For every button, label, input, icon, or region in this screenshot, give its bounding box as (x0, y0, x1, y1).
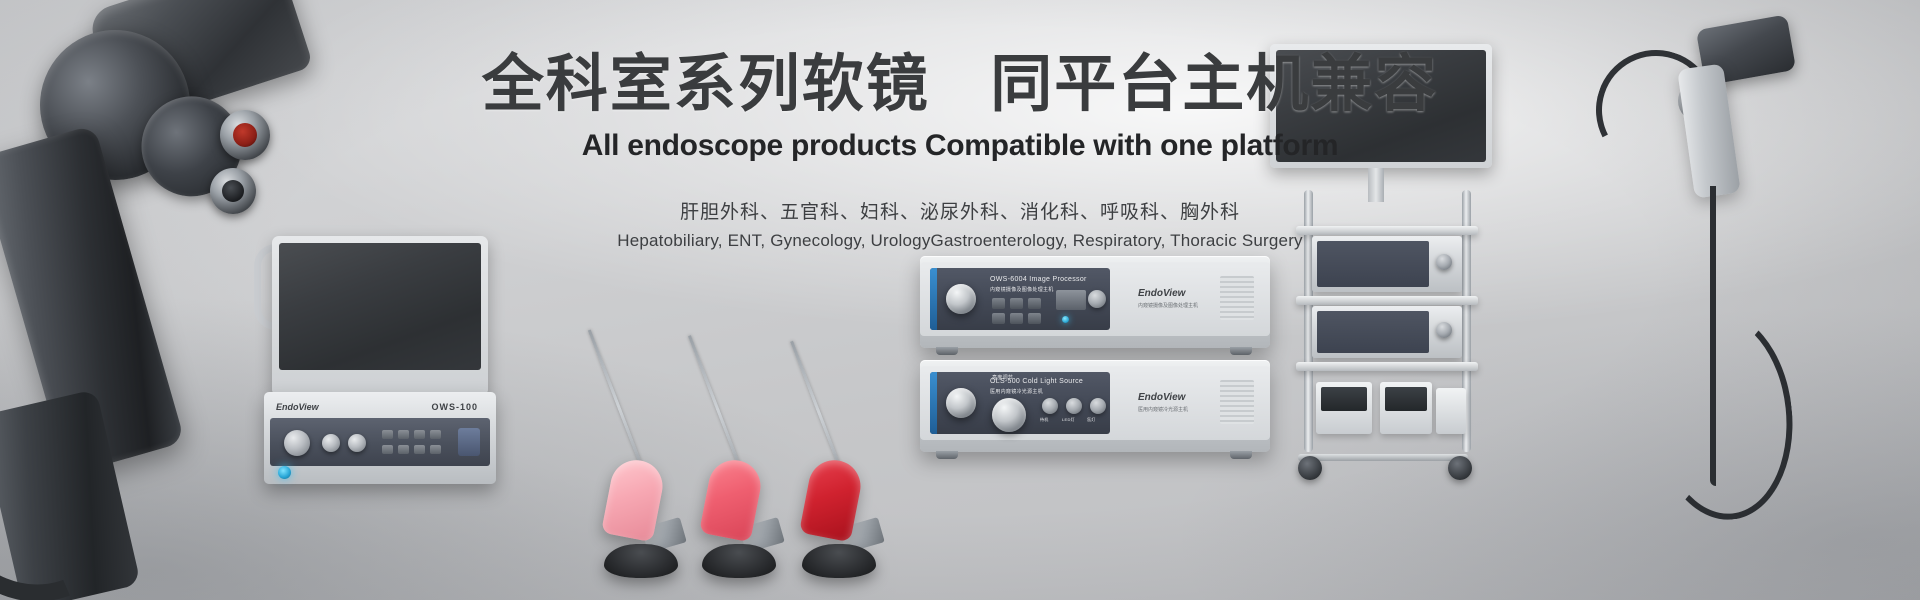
banner-text-block: 全科室系列软镜 同平台主机兼容 All endoscope products C… (0, 52, 1920, 251)
cold-light-source-unit: OLS-500 Cold Light Source 医用内窥镜冷光源主机 亮度调… (920, 360, 1270, 452)
cart-accessory-unit (1316, 382, 1372, 434)
departments-english: Hepatobiliary, ENT, Gynecology, UrologyG… (0, 231, 1920, 251)
processor-vent (1220, 276, 1254, 320)
workstation-dial (284, 430, 310, 456)
light-source-brand-sub: 医用内窥镜冷光源主机 (1138, 406, 1188, 413)
departments-chinese: 肝胆外科、五官科、妇科、泌尿外科、消化科、呼吸科、胸外科 (0, 197, 1920, 224)
processor-foot (1230, 347, 1252, 355)
scope-tube-loop (1641, 303, 1802, 526)
processor-blue-stripe (930, 268, 937, 330)
processor-title-en: OWS-6004 Image Processor (990, 276, 1087, 283)
cart-shelf (1296, 362, 1478, 371)
workstation-power-indicator (278, 466, 291, 479)
cart-accessory-screen (1321, 387, 1367, 411)
processor-main-dial (946, 284, 976, 314)
light-source-fiber-port (946, 388, 976, 418)
processor-brand-label: EndoView (1138, 288, 1185, 299)
workstation-dial-small (348, 434, 366, 452)
light-source-button-standby (1042, 398, 1058, 414)
processor-fascia: OWS-6004 Image Processor 内窥镜摄像及图像处理主机 En… (920, 262, 1270, 336)
processor-brand-sub: 内窥镜摄像及图像处理主机 (1138, 302, 1198, 309)
workstation-keypad-key (430, 430, 441, 439)
workstation-keypad-key (382, 430, 393, 439)
instrument-pink (608, 348, 698, 578)
workstation-model-label: OWS-100 (431, 402, 478, 412)
light-source-control-panel: OLS-500 Cold Light Source 医用内窥镜冷光源主机 亮度调… (930, 372, 1110, 434)
light-source-standby-label: 待机 (1040, 417, 1049, 423)
processor-button (992, 298, 1005, 309)
light-source-brand-label: EndoView (1138, 392, 1185, 403)
light-source-led-label: LED灯 (1062, 417, 1075, 423)
image-processor-unit: OWS-6004 Image Processor 内窥镜摄像及图像处理主机 En… (920, 256, 1270, 348)
processor-button (992, 313, 1005, 324)
cart-shelf (1296, 296, 1478, 305)
light-source-fascia: OLS-500 Cold Light Source 医用内窥镜冷光源主机 亮度调… (920, 366, 1270, 440)
cart-device-light-source (1312, 306, 1462, 358)
processor-card-slot (1056, 290, 1086, 310)
workstation-dial-small (322, 434, 340, 452)
processor-button (1028, 313, 1041, 324)
workstation-keypad-key (414, 445, 425, 454)
promotional-banner: EndoView OWS-100 (0, 0, 1920, 600)
subheadline: All endoscope products Compatible with o… (0, 129, 1920, 163)
processor-title-cn: 内窥镜摄像及图像处理主机 (990, 286, 1054, 293)
headline: 全科室系列软镜 同平台主机兼容 (0, 52, 1920, 119)
cart-device-panel (1317, 311, 1429, 353)
workstation-monitor (272, 236, 488, 396)
light-source-xenon-label: 氙灯 (1087, 417, 1096, 423)
processor-knob (1088, 290, 1106, 308)
workstation-side-module (458, 428, 480, 456)
instrument-coral (706, 348, 796, 578)
cart-accessory-unit (1436, 388, 1466, 434)
light-source-foot (936, 451, 958, 459)
light-source-blue-stripe (930, 372, 937, 434)
cart-accessory-screen (1385, 387, 1427, 411)
light-source-button-xenon (1090, 398, 1106, 414)
light-source-vent (1220, 380, 1254, 424)
cart-wheel-left (1298, 456, 1322, 480)
workstation-keypad-key (398, 445, 409, 454)
light-source-title-cn: 医用内窥镜冷光源主机 (990, 388, 1043, 395)
light-source-button-led (1066, 398, 1082, 414)
processor-button (1010, 298, 1023, 309)
cart-crossbar (1298, 454, 1468, 461)
workstation-base-unit: EndoView OWS-100 (264, 392, 496, 484)
instrument-stand-base (604, 544, 678, 578)
workstation-screen-glass (279, 243, 481, 370)
cart-device-knob (1436, 254, 1452, 270)
light-source-brightness-label: 亮度调节 (992, 374, 1013, 381)
workstation-control-fascia (270, 418, 490, 466)
processor-foot (936, 347, 958, 355)
workstation-ows-100: EndoView OWS-100 (232, 236, 502, 490)
processor-button (1010, 313, 1023, 324)
light-source-brightness-dial (992, 398, 1026, 432)
headline-part-2: 同平台主机兼容 (990, 50, 1438, 119)
workstation-keypad-key (398, 430, 409, 439)
instrument-stand-base (702, 544, 776, 578)
processor-status-led (1062, 316, 1069, 323)
instrument-stand-base (802, 544, 876, 578)
processor-stack: OWS-6004 Image Processor 内窥镜摄像及图像处理主机 En… (920, 256, 1280, 456)
processor-button (1028, 298, 1041, 309)
workstation-keypad-key (414, 430, 425, 439)
light-source-foot (1230, 451, 1252, 459)
cart-wheel-right (1448, 456, 1472, 480)
workstation-keypad-key (382, 445, 393, 454)
workstation-keypad-key (430, 445, 441, 454)
processor-control-panel: OWS-6004 Image Processor 内窥镜摄像及图像处理主机 (930, 268, 1110, 330)
headline-part-1: 全科室系列软镜 (482, 50, 930, 119)
workstation-brand-label: EndoView (276, 402, 319, 412)
cart-device-knob (1436, 322, 1452, 338)
instrument-red (806, 348, 896, 578)
cart-accessory-unit (1380, 382, 1432, 434)
